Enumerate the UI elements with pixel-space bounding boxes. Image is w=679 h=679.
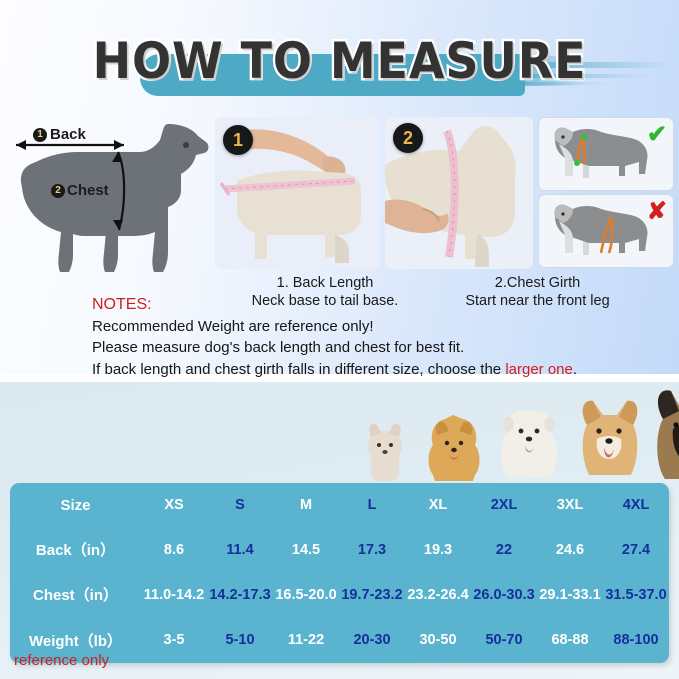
back-measure-label: 1 Back bbox=[33, 126, 86, 143]
chest-s: 14.2-17.3 bbox=[207, 587, 273, 603]
size-header-4xl: 4XL bbox=[603, 497, 669, 513]
notes-line-3-post: . bbox=[573, 361, 577, 378]
size-chart-table: Size XS S M L XL 2XL 3XL 4XL Back（in） 8.… bbox=[10, 483, 669, 663]
back-4xl: 27.4 bbox=[603, 542, 669, 558]
back-3xl: 24.6 bbox=[537, 542, 603, 558]
infographic-page: HOW TO MEASURE 1 Back 2 Chest bbox=[0, 0, 679, 679]
row-label-chest: Chest（in） bbox=[10, 584, 141, 605]
title-banner: HOW TO MEASURE bbox=[0, 32, 679, 104]
notes-block: NOTES: Recommended Weight are reference … bbox=[92, 296, 652, 380]
weight-xl: 30-50 bbox=[405, 632, 471, 648]
number-one-badge: 1 bbox=[33, 128, 47, 142]
reference-only-footnote: reference only bbox=[14, 652, 109, 669]
size-header-l: L bbox=[339, 497, 405, 513]
size-header-s: S bbox=[207, 497, 273, 513]
page-title: HOW TO MEASURE bbox=[27, 32, 652, 90]
caption-chest-title: 2.Chest Girth bbox=[430, 274, 645, 292]
back-xs: 8.6 bbox=[141, 542, 207, 558]
back-m: 14.5 bbox=[273, 542, 339, 558]
pomeranian-photo bbox=[423, 411, 485, 483]
notes-line-1: Recommended Weight are reference only! bbox=[92, 316, 652, 337]
photo-back-measurement: 1 bbox=[215, 117, 380, 269]
checkmark-icon: ✔ bbox=[647, 120, 667, 149]
weight-m: 11-22 bbox=[273, 632, 339, 648]
weight-3xl: 68-88 bbox=[537, 632, 603, 648]
weight-4xl: 88-100 bbox=[603, 632, 669, 648]
dog-size-lineup bbox=[355, 385, 679, 483]
notes-line-2: Please measure dog's back length and che… bbox=[92, 337, 652, 358]
cross-icon: ✘ bbox=[647, 197, 667, 226]
table-row-chest: Chest（in） 11.0-14.2 14.2-17.3 16.5-20.0 … bbox=[10, 572, 669, 617]
table-header-row: Size XS S M L XL 2XL 3XL 4XL bbox=[10, 483, 669, 527]
weight-s: 5-10 bbox=[207, 632, 273, 648]
chest-measure-label: 2 Chest bbox=[51, 182, 109, 199]
number-two-badge: 2 bbox=[51, 184, 65, 198]
german-shepherd-photo bbox=[649, 385, 679, 483]
notes-line-3: If back length and chest girth falls in … bbox=[92, 359, 652, 380]
row-label-weight: Weight（lb） bbox=[10, 630, 141, 651]
chest-xs: 11.0-14.2 bbox=[141, 587, 207, 603]
bichon-photo bbox=[495, 403, 563, 483]
chihuahua-photo bbox=[355, 417, 411, 483]
row-label-size: Size bbox=[10, 497, 141, 514]
chest-l: 19.7-23.2 bbox=[339, 587, 405, 603]
caption-back-title: 1. Back Length bbox=[225, 274, 425, 292]
weight-xs: 3-5 bbox=[141, 632, 207, 648]
corgi-photo bbox=[573, 395, 645, 483]
size-header-2xl: 2XL bbox=[471, 497, 537, 513]
size-header-m: M bbox=[273, 497, 339, 513]
back-s: 11.4 bbox=[207, 542, 273, 558]
back-l: 17.3 bbox=[339, 542, 405, 558]
chest-label-text: Chest bbox=[67, 182, 109, 199]
chest-xl: 23.2-26.4 bbox=[405, 587, 471, 603]
table-row-back: Back（in） 8.6 11.4 14.5 17.3 19.3 22 24.6… bbox=[10, 527, 669, 572]
photo-incorrect-position: ✘ bbox=[538, 194, 674, 268]
row-label-back: Back（in） bbox=[10, 539, 141, 560]
notes-heading: NOTES: bbox=[92, 296, 652, 314]
measure-diagram: 1 Back 2 Chest bbox=[0, 112, 215, 280]
back-xl: 19.3 bbox=[405, 542, 471, 558]
size-header-3xl: 3XL bbox=[537, 497, 603, 513]
size-header-xs: XS bbox=[141, 497, 207, 513]
back-label-text: Back bbox=[50, 126, 86, 143]
step-one-badge: 1 bbox=[223, 125, 253, 155]
weight-2xl: 50-70 bbox=[471, 632, 537, 648]
chest-m: 16.5-20.0 bbox=[273, 587, 339, 603]
notes-line-3-pre: If back length and chest girth falls in … bbox=[92, 361, 505, 378]
chest-2xl: 26.0-30.3 bbox=[471, 587, 537, 603]
weight-l: 20-30 bbox=[339, 632, 405, 648]
back-2xl: 22 bbox=[471, 542, 537, 558]
chest-4xl: 31.5-37.0 bbox=[603, 587, 669, 603]
photo-chest-measurement: 2 bbox=[385, 117, 533, 269]
chest-3xl: 29.1-33.1 bbox=[537, 587, 603, 603]
notes-line-3-emphasis: larger one bbox=[505, 361, 573, 378]
size-header-xl: XL bbox=[405, 497, 471, 513]
photo-correct-position: ✔ bbox=[538, 117, 674, 191]
step-two-badge: 2 bbox=[393, 123, 423, 153]
